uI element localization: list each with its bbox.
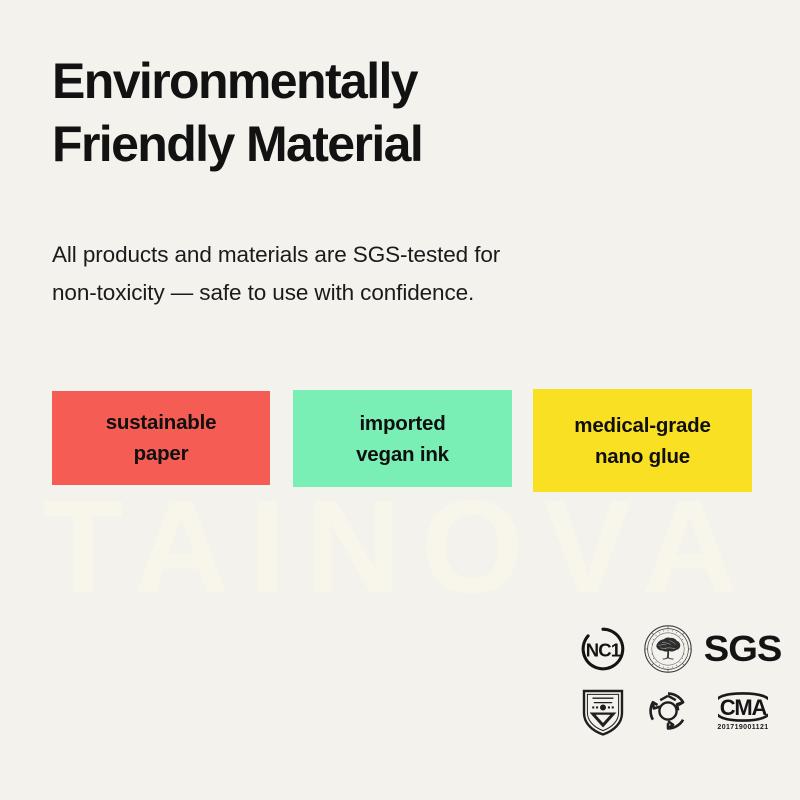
svg-text:NC1: NC1 [586,640,621,661]
sgs-wordmark-icon: SGS [702,631,784,667]
material-tag-line-2: paper [134,438,189,469]
cma-code-label: 201719001121 [717,724,768,731]
page-description: All products and materials are SGS-teste… [52,236,652,312]
sgs-label: SGS [704,631,781,667]
cma-oval-mark-icon: CMA 201719001121 [702,691,784,731]
tree-seal-icon [634,624,702,674]
nc1-circle-badge-icon: NC1 [572,626,634,672]
svg-text:CMA: CMA [720,695,768,720]
material-tag-row: sustainable paper imported vegan ink med… [52,391,752,501]
material-tag-line-2: nano glue [595,441,690,472]
page-description-line-2: non-toxicity — safe to use with confiden… [52,274,652,312]
recycle-arrows-icon [634,687,702,735]
page-title-line-2: Friendly Material [52,113,692,176]
material-tag-line-1: sustainable [106,407,217,438]
material-tag-line-1: imported [359,408,445,439]
material-tag-imported-vegan-ink: imported vegan ink [293,390,512,487]
poster-canvas: TAINOVA Environmentally Friendly Materia… [0,0,800,800]
material-tag-line-2: vegan ink [356,439,449,470]
page-title-line-1: Environmentally [52,50,692,113]
certification-badges: NC1 [572,618,784,742]
material-tag-sustainable-paper: sustainable paper [52,391,270,485]
certification-row-1: NC1 [572,618,784,680]
material-tag-line-1: medical-grade [574,410,710,441]
certification-row-2: CMA 201719001121 [572,680,784,742]
page-description-line-1: All products and materials are SGS-teste… [52,236,652,274]
page-title: Environmentally Friendly Material [52,50,692,176]
shield-badge-icon [572,686,634,736]
material-tag-medical-grade-nano-glue: medical-grade nano glue [533,389,752,492]
